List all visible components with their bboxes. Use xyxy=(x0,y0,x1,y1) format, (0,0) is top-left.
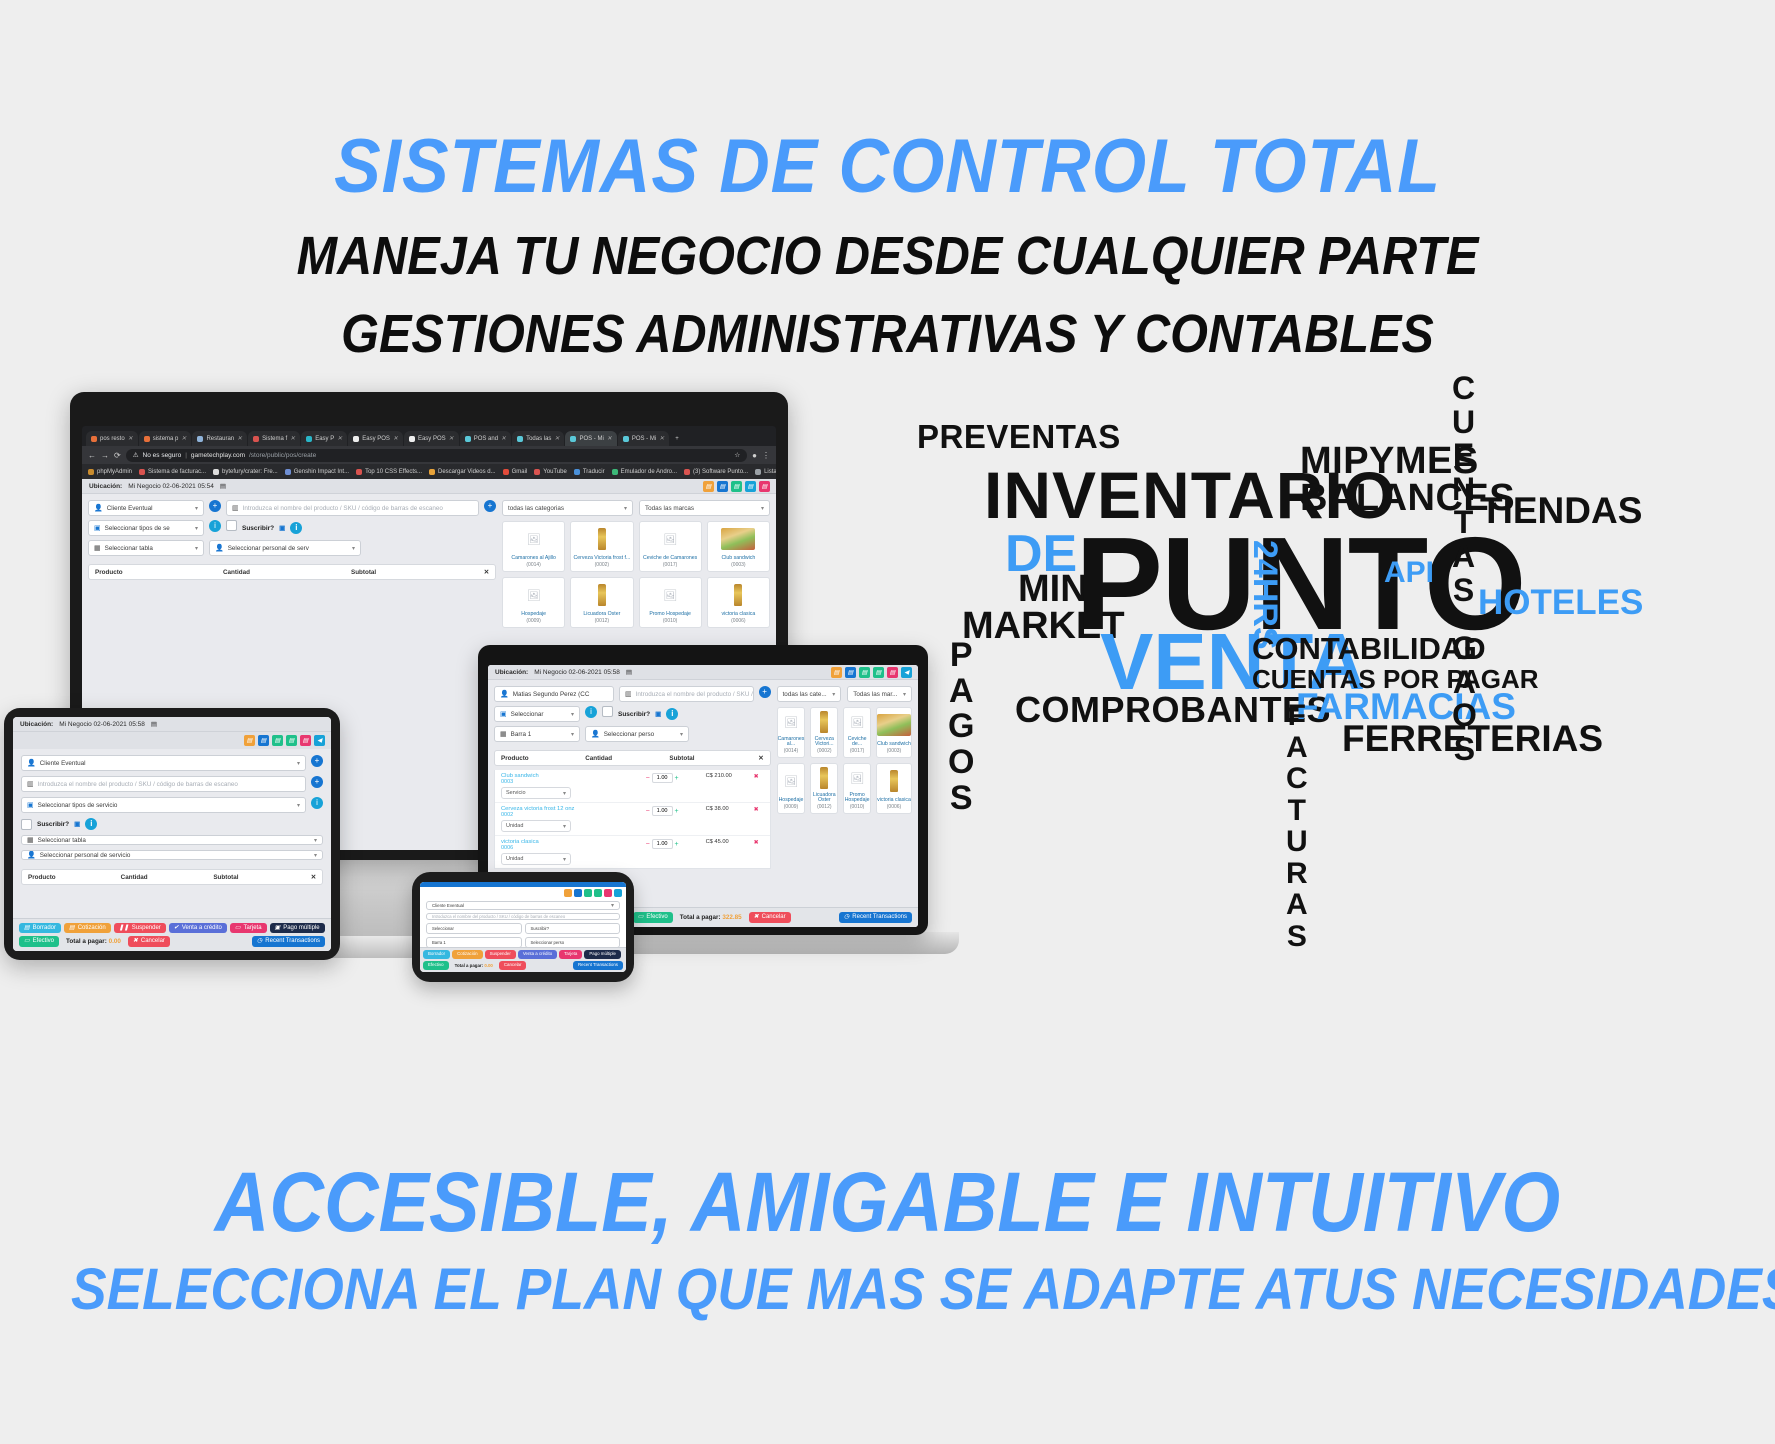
product-card[interactable]: Club sandwich(0003) xyxy=(707,521,770,572)
recent-transactions-button[interactable]: Recent Transactions xyxy=(573,961,623,970)
image-placeholder-icon: 🖼 xyxy=(640,578,701,612)
efectivo-button[interactable]: Efectivo xyxy=(423,961,449,970)
orders-icon[interactable]: ▤ xyxy=(831,667,842,678)
category-filter[interactable]: todas las cate... ▾ xyxy=(777,686,842,702)
subscribe-field[interactable]: Suscribir? xyxy=(525,923,621,934)
add-customer-button[interactable]: + xyxy=(311,755,323,767)
service-row: ▣ Seleccionar ▾ i Suscribir? ▣ i xyxy=(494,706,771,722)
product-row: ▥ Introduzca el nombre del producto / SK… xyxy=(21,776,323,792)
poster-canvas: SISTEMAS DE CONTROL TOTAL MANEJA TU NEGO… xyxy=(0,0,1775,1444)
bookmark-item[interactable]: Descargar Videos d... xyxy=(429,469,496,475)
url-path: /store/public/pos/create xyxy=(249,452,316,459)
cart-table-header: Producto Cantidad Subtotal ✕ xyxy=(21,869,323,885)
person-icon: 👤 xyxy=(94,504,103,512)
product-card[interactable]: Licuadora Oster(0012) xyxy=(810,763,838,814)
location-value: Mi Negocio 02-06-2021 05:58 xyxy=(59,721,145,728)
button-label: Suspender xyxy=(490,952,511,957)
button-label: Efectivo xyxy=(646,914,667,921)
orders-icon[interactable]: ▤ xyxy=(703,481,714,492)
save-icon[interactable]: ▤ xyxy=(731,481,742,492)
product-search-input[interactable]: Introduzca el nombre del producto / SKU … xyxy=(426,913,620,920)
quick-action-bar[interactable]: ▤ ▤ ▤ ▤ ▤ ◀ xyxy=(13,732,331,749)
home-icon[interactable] xyxy=(594,889,602,897)
table-value: Seleccionar tabla xyxy=(105,545,153,552)
home-icon[interactable]: ▤ xyxy=(873,667,884,678)
brand-filter[interactable]: Todas las marcas ▾ xyxy=(639,500,770,516)
close-icon[interactable]: ▤ xyxy=(887,667,898,678)
phone-action-bar: Borrador Cotización Suspender Venta a cr… xyxy=(420,947,626,972)
product-card[interactable]: 🖼Hospedaje(0009) xyxy=(502,577,565,628)
tab-label: POS - Mi xyxy=(579,436,603,442)
add-product-button[interactable]: + xyxy=(484,500,496,512)
home-icon[interactable]: ▤ xyxy=(745,481,756,492)
customer-select[interactable]: 👤 Cliente Eventual ▾ xyxy=(88,500,204,516)
increment-icon[interactable]: + xyxy=(675,808,679,815)
pos-left-column: 👤 Matias Segundo Perez (CC ▥ Introduzca … xyxy=(494,686,771,869)
cancelar-button[interactable]: ✖Cancelar xyxy=(128,936,170,947)
customer-value: Cliente Eventual xyxy=(107,505,153,512)
product-code: (0012) xyxy=(817,804,831,810)
table-value: Barra 1 xyxy=(432,940,446,945)
service-info-button[interactable]: i xyxy=(311,797,323,809)
browser-tab[interactable]: Todas las✕ xyxy=(512,431,564,446)
save-icon[interactable]: ▤ xyxy=(272,735,283,746)
button-label: Pago múltiple xyxy=(283,925,319,932)
product-card[interactable]: 🖼Hospedaje(0009) xyxy=(777,763,806,814)
bookmark-label: phpMyAdmin xyxy=(97,469,132,475)
column-producto: Producto xyxy=(95,569,223,576)
close-icon[interactable]: ▤ xyxy=(300,735,311,746)
cotizacion-button[interactable]: Cotización xyxy=(452,950,483,959)
product-card[interactable]: 🖼Promo Hospedaje(0010) xyxy=(639,577,702,628)
venta-credito-button[interactable]: Venta a crédito xyxy=(518,950,557,959)
table-row-selects: ▦ Barra 1 ▾ 👤 Seleccionar perso ▾ xyxy=(494,726,771,742)
customer-row: 👤 Cliente Eventual ▾ + xyxy=(21,755,323,771)
button-label: Efectivo xyxy=(428,963,444,968)
bookmark-item[interactable]: (3) Software Punto... xyxy=(684,469,748,475)
chevron-down-icon: ▾ xyxy=(297,760,300,767)
clock-icon: ◷ xyxy=(257,938,262,945)
product-search-input[interactable]: ▥ Introduzca el nombre del producto / SK… xyxy=(21,776,306,792)
product-thumb xyxy=(811,764,837,793)
increment-icon[interactable]: + xyxy=(675,775,679,782)
increment-icon[interactable]: + xyxy=(675,841,679,848)
product-code: (0010) xyxy=(850,804,864,810)
browser-tab[interactable]: sistema p✕ xyxy=(139,431,192,446)
customer-select[interactable]: 👤 Cliente Eventual ▾ xyxy=(21,755,306,771)
profile-avatar[interactable]: ● xyxy=(752,451,757,460)
location-value: Mi Negocio 02-06-2021 05:58 xyxy=(534,669,620,676)
tablet-action-bar: ▤Borrador ▤Cotización ❚❚Suspender ✔Venta… xyxy=(13,918,331,951)
qty-stepper[interactable]: − 1.00 + xyxy=(646,839,702,849)
service-row: ▣ Seleccionar tipos de servicio ▾ i xyxy=(21,797,323,813)
tab-label: Restauran xyxy=(206,436,234,442)
cart-row: Club sandwich 0003 Servicio▾ − 1.00 xyxy=(495,770,770,803)
product-grid: 🖼Camarones al...(0014) Cerveza Victori..… xyxy=(777,707,912,814)
image-placeholder-icon: 🖼 xyxy=(640,522,701,556)
cash-icon: ▭ xyxy=(24,938,30,945)
service-type-value: Seleccionar xyxy=(511,711,544,718)
image-placeholder-icon: 🖼 xyxy=(778,708,805,737)
chevron-down-icon: ▾ xyxy=(624,505,627,512)
total-label: Total a pagar: xyxy=(66,938,107,945)
person-icon: 👤 xyxy=(500,690,509,698)
word-comprobantes: COMPROBANTES xyxy=(1015,692,1331,728)
product-grid: 🖼Camarones al Ajillo(0014) Cerveza Victo… xyxy=(502,521,770,628)
draft-icon: ▤ xyxy=(24,925,30,932)
pos-body: 👤 Cliente Eventual ▾ + ▥ Introduzca el n… xyxy=(82,494,776,634)
product-code: (0009) xyxy=(526,618,540,624)
browser-chrome: pos resto✕ sistema p✕ Restauran✕ Sistema… xyxy=(82,426,776,479)
bookmark-label: Top 10 CSS Effects... xyxy=(365,469,422,475)
total-label: Total a pagar: xyxy=(455,963,483,968)
word-preventas: PREVENTAS xyxy=(917,420,1121,453)
borrador-button[interactable]: Borrador xyxy=(423,950,450,959)
barcode-icon: ▥ xyxy=(27,780,34,788)
column-producto: Producto xyxy=(28,874,121,881)
remove-item-icon[interactable]: ✖ xyxy=(754,839,764,846)
bookmark-label: Emulador de Andro... xyxy=(621,469,677,475)
person-icon: 👤 xyxy=(27,759,36,767)
staff-select[interactable]: 👤 Seleccionar personal de servicio ▾ xyxy=(21,850,323,860)
remove-item-icon[interactable]: ✖ xyxy=(754,806,764,813)
extensions-icon[interactable]: ⋮ xyxy=(762,451,770,460)
star-icon[interactable]: ☆ xyxy=(734,451,740,459)
bookmark-item[interactable]: phpMyAdmin xyxy=(88,469,132,475)
headline-subtitle-2: GESTIONES ADMINISTRATIVAS Y CONTABLES xyxy=(89,306,1687,363)
browser-tab[interactable]: POS and✕ xyxy=(460,431,511,446)
word-cloud: PREVENTAS INVENTARIO DE MINI MARKET PUNT… xyxy=(900,400,1775,930)
product-card[interactable]: 🖼Camarones al...(0014) xyxy=(777,707,806,758)
chevron-down-icon: ▾ xyxy=(563,790,566,797)
bookmark-item[interactable]: Sistema de facturac... xyxy=(139,469,206,475)
service-type-select[interactable]: ▣ Seleccionar ▾ xyxy=(494,706,580,722)
borrador-button[interactable]: ▤Borrador xyxy=(19,923,61,934)
chevron-down-icon: ▾ xyxy=(195,525,198,532)
bookmark-item[interactable]: Genshin Impact Int... xyxy=(285,469,349,475)
product-search-placeholder: Introduzca el nombre del producto / SKU … xyxy=(243,505,443,512)
column-subtotal: Subtotal xyxy=(669,755,753,762)
register-icon[interactable]: ▤ xyxy=(845,667,856,678)
browser-tab-active[interactable]: POS - Mi✕ xyxy=(565,431,616,446)
new-tab-button[interactable]: + xyxy=(670,431,684,446)
total-value: 322.85 xyxy=(722,914,741,921)
tarjeta-button[interactable]: Tarjeta xyxy=(559,950,582,959)
save-icon[interactable]: ▤ xyxy=(859,667,870,678)
subscribe-checkbox[interactable] xyxy=(226,520,237,531)
browser-tab[interactable]: Easy P✕ xyxy=(301,431,347,446)
word-tiendas: TIENDAS xyxy=(1480,492,1642,529)
service-type-value: Seleccionar tipos de se xyxy=(105,525,170,532)
cancelar-button[interactable]: Cancelar xyxy=(499,961,527,970)
pos-right-column: todas las cate... ▾ Todas las mar... ▾ 🖼… xyxy=(777,686,912,869)
qty-value[interactable]: 1.00 xyxy=(652,839,673,849)
address-bar[interactable]: ⚠ No es seguro | gametechplay.com/store/… xyxy=(126,449,747,462)
browser-tab[interactable]: Restauran✕ xyxy=(192,431,247,446)
suspender-button[interactable]: ❚❚Suspender xyxy=(114,923,166,934)
bookmark-item[interactable]: YouTube xyxy=(534,469,567,475)
cart-item-subtotal: C$ 38.00 xyxy=(706,806,750,812)
customer-select[interactable]: Cliente Eventual▾ xyxy=(426,901,620,910)
service-type-value: Seleccionar tipos de servicio xyxy=(38,802,118,809)
decrement-icon[interactable]: − xyxy=(646,775,650,782)
table-select[interactable]: ▦ Seleccionar tabla ▾ xyxy=(21,835,323,845)
service-icon: ▣ xyxy=(94,524,101,532)
product-card[interactable]: 🖼Camarones al Ajillo(0014) xyxy=(502,521,565,572)
word-contabilidad: CONTABILIDAD xyxy=(1252,633,1486,664)
cancelar-button[interactable]: ✖Cancelar xyxy=(749,912,791,923)
bookmark-item[interactable]: Gmail xyxy=(503,469,528,475)
product-code: (0002) xyxy=(817,748,831,754)
service-info-button[interactable]: i xyxy=(209,520,221,532)
category-filter[interactable]: todas las categorias ▾ xyxy=(502,500,633,516)
decrement-icon[interactable]: − xyxy=(646,841,650,848)
pos-right-column: todas las categorias ▾ Todas las marcas … xyxy=(502,500,770,628)
column-producto: Producto xyxy=(501,755,585,762)
pause-icon: ❚❚ xyxy=(119,925,129,932)
chevron-down-icon: ▾ xyxy=(297,802,300,809)
total-group: Total a pagar: 322.85 xyxy=(676,914,746,921)
pago-multiple-button[interactable]: ▣Pago múltiple xyxy=(270,923,325,934)
button-label: Pago múltiple xyxy=(589,952,616,957)
recent-transactions-button[interactable]: ◷Recent Transactions xyxy=(252,936,325,947)
cancel-icon: ✖ xyxy=(133,938,138,945)
register-icon[interactable] xyxy=(574,889,582,897)
orders-icon[interactable] xyxy=(564,889,572,897)
venta-credito-button[interactable]: ✔Venta a crédito xyxy=(169,923,227,934)
cart-item-unit-select[interactable]: Unidad▾ xyxy=(501,820,571,832)
tab-label: Sistema f xyxy=(262,436,287,442)
table-select[interactable]: ▦ Barra 1 ▾ xyxy=(494,726,580,742)
calendar-icon[interactable]: ▤ xyxy=(151,720,157,728)
button-label: Cotización xyxy=(78,925,106,932)
new-tab-label: + xyxy=(675,436,679,442)
product-search-input[interactable]: ▥ Introduzca el nombre del producto / SK… xyxy=(226,500,479,516)
word-facturas: FACTURAS xyxy=(1286,700,1308,952)
product-search-placeholder: Introduzca el nombre del producto / SKU … xyxy=(38,781,238,788)
pos-left-column: 👤 Cliente Eventual ▾ + ▥ Introduzca el n… xyxy=(88,500,496,628)
add-product-button[interactable]: + xyxy=(759,686,771,698)
image-placeholder-icon: 🖼 xyxy=(503,522,564,556)
forward-icon[interactable]: → xyxy=(101,451,109,460)
cotizacion-button[interactable]: ▤Cotización xyxy=(64,923,111,934)
orders-icon[interactable]: ▤ xyxy=(244,735,255,746)
unit-value: Unidad xyxy=(506,823,523,829)
browser-tab[interactable]: Sistema f✕ xyxy=(248,431,300,446)
efectivo-button[interactable]: ▭Efectivo xyxy=(633,912,673,923)
button-label: Recent Transactions xyxy=(265,938,320,945)
chevron-down-icon: ▾ xyxy=(314,837,317,844)
close-icon[interactable]: ▤ xyxy=(759,481,770,492)
customer-select[interactable]: 👤 Matias Segundo Perez (CC xyxy=(494,686,614,702)
browser-tabstrip[interactable]: pos resto✕ sistema p✕ Restauran✕ Sistema… xyxy=(82,426,776,446)
remove-item-icon[interactable]: ✖ xyxy=(754,773,764,780)
product-thumb xyxy=(571,578,632,612)
bookmark-item[interactable]: Emulador de Andro... xyxy=(612,469,677,475)
bookmark-label: YouTube xyxy=(543,469,567,475)
service-type-select[interactable]: ▣ Seleccionar tipos de se ▾ xyxy=(88,520,204,536)
save-icon[interactable] xyxy=(584,889,592,897)
bookmark-item[interactable]: Traducir xyxy=(574,469,605,475)
product-code: (0012) xyxy=(595,618,609,624)
suspender-button[interactable]: Suspender xyxy=(485,950,516,959)
product-card[interactable]: Licuadora Oster(0012) xyxy=(570,577,633,628)
tab-label: Easy P xyxy=(315,436,334,442)
barcode-icon: ▥ xyxy=(232,504,239,512)
column-cantidad: Cantidad xyxy=(223,569,351,576)
subscribe-label: Suscribir? xyxy=(242,525,274,532)
product-code: (0003) xyxy=(731,562,745,568)
cart-item-unit-select[interactable]: Unidad▾ xyxy=(501,853,571,865)
staff-select[interactable]: 👤 Seleccionar personal de serv ▾ xyxy=(209,540,361,556)
subscribe-label: Suscribir? xyxy=(531,926,550,931)
location-label: Ubicación: xyxy=(495,669,528,676)
service-type-select[interactable]: ▣ Seleccionar tipos de servicio ▾ xyxy=(21,797,306,813)
product-name: Promo Hospedaje xyxy=(844,793,870,804)
product-search-input[interactable]: ▥ Introduzca el nombre del producto / SK… xyxy=(619,686,754,702)
chevron-down-icon: ▾ xyxy=(571,731,574,738)
button-label: Cancelar xyxy=(141,938,165,945)
service-type-select[interactable]: Seleccionar xyxy=(426,923,522,934)
product-card[interactable]: 🖼Ceviche de...(0017) xyxy=(843,707,871,758)
register-icon[interactable]: ▤ xyxy=(717,481,728,492)
location-label: Ubicación: xyxy=(20,721,53,728)
filter-row: todas las cate... ▾ Todas las mar... ▾ xyxy=(777,686,912,702)
staff-select[interactable]: 👤 Seleccionar perso ▾ xyxy=(585,726,689,742)
subscribe-info-button[interactable]: i xyxy=(290,522,302,534)
pago-multiple-button[interactable]: Pago múltiple xyxy=(584,950,621,959)
quick-action-bar[interactable] xyxy=(420,887,626,899)
decrement-icon[interactable]: − xyxy=(646,808,650,815)
add-product-button[interactable]: + xyxy=(311,776,323,788)
product-code: (0010) xyxy=(663,618,677,624)
cart-item-code: 0002 xyxy=(501,812,642,818)
add-customer-button[interactable]: + xyxy=(209,500,221,512)
efectivo-button[interactable]: ▭Efectivo xyxy=(19,936,59,947)
subscribe-info-button[interactable]: i xyxy=(666,708,678,720)
table-select[interactable]: ▦ Seleccionar tabla ▾ xyxy=(88,540,204,556)
location-value: Mi Negocio 02-06-2021 05:54 xyxy=(128,483,214,490)
column-cantidad: Cantidad xyxy=(121,874,214,881)
person-icon: 👤 xyxy=(215,544,224,552)
product-code: (0014) xyxy=(784,748,798,754)
total-value: 0.00 xyxy=(484,963,493,968)
page-title: SISTEMAS DE CONTROL TOTAL xyxy=(71,128,1704,206)
calendar-icon[interactable]: ▤ xyxy=(626,668,632,676)
product-name: Camarones al... xyxy=(778,737,805,748)
back-icon[interactable]: ◀ xyxy=(314,735,325,746)
unit-value: Unidad xyxy=(506,856,523,862)
column-subtotal: Subtotal xyxy=(213,874,306,881)
bookmark-item[interactable]: bytefury/crater: Fre... xyxy=(213,469,278,475)
back-icon[interactable]: ← xyxy=(88,451,96,460)
category-filter-value: todas las cate... xyxy=(783,691,827,698)
product-card[interactable]: Cerveza Victori...(0002) xyxy=(810,707,838,758)
close-icon[interactable] xyxy=(604,889,612,897)
security-label: No es seguro xyxy=(143,452,182,459)
button-label: Cancelar xyxy=(504,963,522,968)
headline-block: SISTEMAS DE CONTROL TOTAL MANEJA TU NEGO… xyxy=(0,128,1775,363)
button-label: Tarjeta xyxy=(244,925,262,932)
qty-value[interactable]: 1.00 xyxy=(652,773,673,783)
table-row-selects: ▦ Seleccionar tabla ▾ 👤 Seleccionar pers… xyxy=(88,540,496,556)
back-icon[interactable] xyxy=(614,889,622,897)
tarjeta-button[interactable]: ▭Tarjeta xyxy=(230,923,267,934)
product-card[interactable]: victoria clasica(0006) xyxy=(707,577,770,628)
column-subtotal: Subtotal xyxy=(351,569,479,576)
bookmark-label: Sistema de facturac... xyxy=(148,469,206,475)
chevron-down-icon: ▾ xyxy=(314,852,317,859)
table-icon: ▦ xyxy=(27,836,34,844)
product-search-placeholder: Introduzca el nombre del producto / SKU … xyxy=(636,691,754,698)
product-card[interactable]: 🖼Promo Hospedaje(0010) xyxy=(843,763,871,814)
unit-value: Servicio xyxy=(506,790,526,796)
subscribe-info-button[interactable]: i xyxy=(85,818,97,830)
product-search-placeholder: Introduzca el nombre del producto / SKU … xyxy=(432,914,565,919)
browser-tab[interactable]: Easy POS✕ xyxy=(348,431,403,446)
location-bar: Ubicación: Mi Negocio 02-06-2021 05:58 ▤… xyxy=(488,665,918,680)
bookmark-item[interactable]: Top 10 CSS Effects... xyxy=(356,469,422,475)
word-pagos-left: PAGOS xyxy=(948,638,974,816)
product-card[interactable]: 🖼Ceviche de Camarones(0017) xyxy=(639,521,702,572)
tab-label: Easy POS xyxy=(418,436,446,442)
home-icon[interactable]: ▤ xyxy=(286,735,297,746)
browser-tab[interactable]: pos resto✕ xyxy=(86,431,138,446)
reading-list-label: Lista de lectura xyxy=(764,469,776,475)
product-card[interactable]: Cerveza Victoria frost f...(0002) xyxy=(570,521,633,572)
bookmark-label: Genshin Impact Int... xyxy=(294,469,349,475)
cart-table-header: Producto Cantidad Subtotal ✕ xyxy=(88,564,496,580)
table-icon: ▦ xyxy=(94,544,101,552)
subscribe-icon: ▣ xyxy=(655,710,661,718)
subscribe-icon: ▣ xyxy=(74,820,80,828)
tab-label: pos resto xyxy=(100,436,125,442)
service-type-value: Seleccionar xyxy=(432,926,454,931)
browser-tab[interactable]: POS - Mi✕ xyxy=(618,431,669,446)
subscribe-checkbox[interactable] xyxy=(602,706,613,717)
service-info-button[interactable]: i xyxy=(585,706,597,718)
reload-icon[interactable]: ⟳ xyxy=(114,451,121,460)
subscribe-checkbox[interactable] xyxy=(21,819,32,830)
phone-device: Cliente Eventual▾ Introduzca el nombre d… xyxy=(412,872,634,982)
cart-item-unit-select[interactable]: Servicio▾ xyxy=(501,787,571,799)
button-label: Efectivo xyxy=(33,938,54,945)
remove-column-icon: ✕ xyxy=(479,569,489,576)
brand-filter-value: Todas las mar... xyxy=(853,691,897,698)
button-label: Cotización xyxy=(457,952,478,957)
qty-stepper[interactable]: − 1.00 + xyxy=(646,806,702,816)
subscribe-group: Suscribir? ▣ i xyxy=(21,818,323,830)
not-secure-icon: ⚠ xyxy=(133,451,139,459)
quick-action-bar[interactable]: ▤ ▤ ▤ ▤ ▤ xyxy=(703,481,770,492)
button-label: Recent Transactions xyxy=(578,963,618,968)
qty-stepper[interactable]: − 1.00 + xyxy=(646,773,702,783)
customer-row: 👤 Cliente Eventual ▾ + ▥ Introduzca el n… xyxy=(88,500,496,516)
register-icon[interactable]: ▤ xyxy=(258,735,269,746)
browser-tab[interactable]: Easy POS✕ xyxy=(404,431,459,446)
multi-pay-icon: ▣ xyxy=(275,925,281,932)
tab-label: Todas las xyxy=(526,436,551,442)
reading-list-button[interactable]: Lista de lectura xyxy=(755,469,776,475)
chevron-down-icon: ▾ xyxy=(832,691,835,698)
qty-value[interactable]: 1.00 xyxy=(652,806,673,816)
bookmark-label: Gmail xyxy=(512,469,528,475)
bookmark-label: Descargar Videos d... xyxy=(438,469,496,475)
cart-item-code: 0006 xyxy=(501,845,642,851)
calendar-icon[interactable]: ▤ xyxy=(220,482,226,490)
headline-subtitle-1: MANEJA TU NEGOCIO DESDE CUALQUIER PARTE xyxy=(89,228,1687,285)
subscribe-label: Suscribir? xyxy=(618,711,650,718)
